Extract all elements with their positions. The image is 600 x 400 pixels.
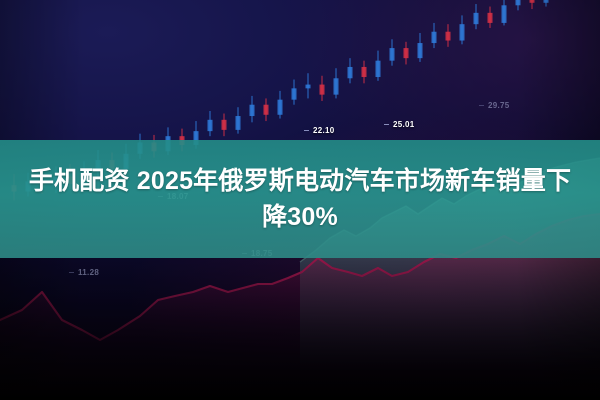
banner-image: 11.2818.0718.7522.1025.0129.75 手机配资 2025… bbox=[0, 0, 600, 400]
headline-line-1: 手机配资 2025年俄罗斯电动汽车市场新车销量下 bbox=[12, 165, 588, 197]
headline-line-2: 降30% bbox=[262, 201, 338, 233]
price-tag: 29.75 bbox=[488, 101, 510, 110]
headline: 手机配资 2025年俄罗斯电动汽车市场新车销量下 降30% bbox=[0, 140, 600, 258]
price-tag: 25.01 bbox=[393, 120, 415, 129]
price-tag: 22.10 bbox=[313, 126, 335, 135]
price-tag: 11.28 bbox=[78, 268, 99, 277]
